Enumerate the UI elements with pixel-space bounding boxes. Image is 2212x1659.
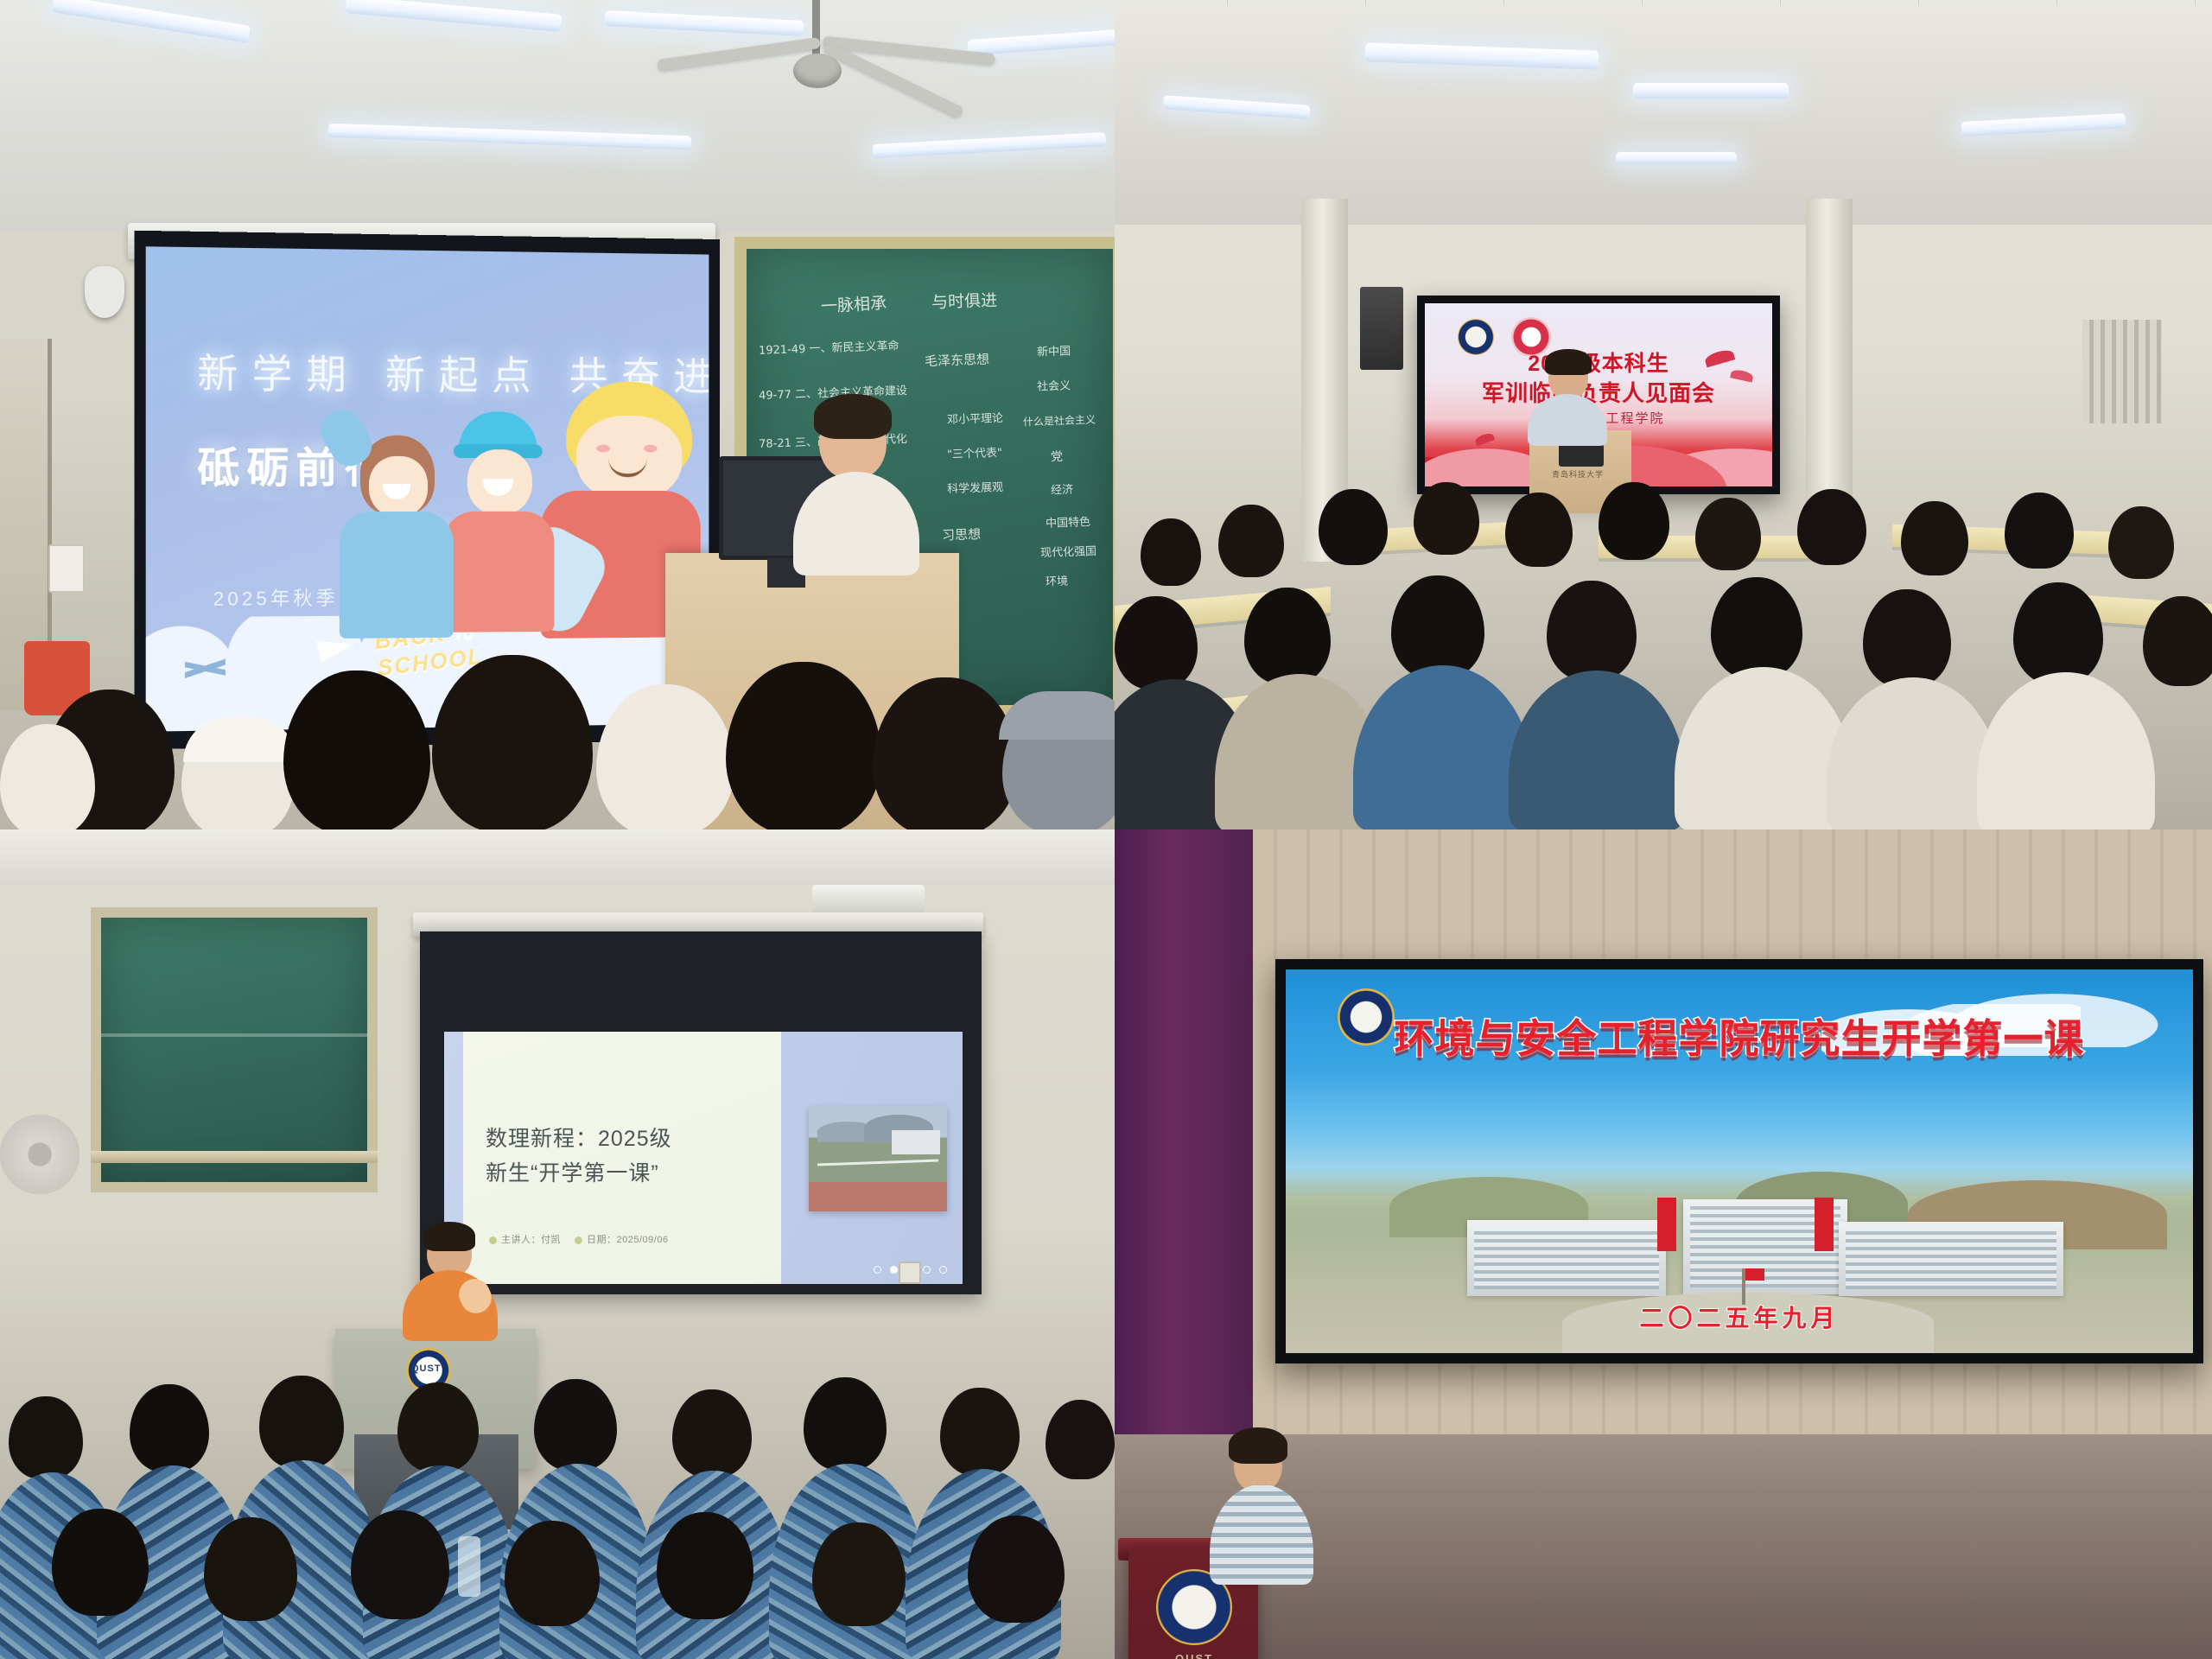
building-windows: [1846, 1229, 2056, 1289]
slide-title-line-1: 数理新程：2025级: [486, 1122, 672, 1153]
university-emblem-icon: [1458, 319, 1494, 355]
radiator: [2082, 320, 2162, 423]
chalk-line: 中国特色: [1046, 512, 1091, 531]
bird-decoration-icon: [1704, 348, 1736, 368]
led-title: 环境与安全工程学院研究生开学第一课: [1395, 1007, 2085, 1065]
wall-speaker: [1360, 287, 1403, 370]
projection-screen: 数理新程：2025级 新生“开学第一课” 主讲人：付凯 日期：2025/09/0…: [420, 931, 982, 1294]
pager-dot-5[interactable]: [939, 1266, 947, 1274]
chalk-line: 新中国: [1037, 341, 1071, 359]
lecturer: [798, 399, 911, 572]
led-date: 二〇二五年九月: [1639, 1300, 1839, 1334]
campus-photo: [809, 1106, 947, 1211]
chalk-line: 科学发展观: [947, 478, 1004, 496]
presenter-label: 主讲人：付凯: [501, 1235, 561, 1245]
chalk-line: "三个代表": [947, 443, 1003, 461]
podium-logo-text: QUST: [1175, 1652, 1213, 1659]
bullet-dot-icon: [575, 1236, 582, 1244]
chalk-line: 党: [1051, 448, 1064, 465]
slide-title-line-2: 新生“开学第一课”: [486, 1156, 659, 1187]
panel-top-left-classroom: 一脉相承 与时俱进 1921-49 一、新民主义革命 49-77 二、社会主义革…: [0, 0, 1115, 829]
wall-switch-panel[interactable]: [48, 544, 85, 593]
ceiling-light: [1616, 152, 1737, 164]
panel-bottom-left-new-student-lesson: 数理新程：2025级 新生“开学第一课” 主讲人：付凯 日期：2025/09/0…: [0, 829, 1115, 1659]
ceiling-fan-hub: [793, 54, 842, 88]
chalk-heading-right: 与时俱进: [931, 288, 998, 314]
date-label: 日期：2025/09/06: [587, 1235, 669, 1245]
chalk-line: 环境: [1046, 572, 1069, 589]
stage-curtain: [1115, 829, 1253, 1434]
chalk-line: 什么是社会主义: [1023, 412, 1096, 429]
chalk-heading-left: 一脉相承: [820, 290, 887, 317]
ceiling-grid: [0, 0, 1115, 251]
pager-dot-2-active[interactable]: [890, 1266, 898, 1274]
slide-date: 日期：2025/09/06: [575, 1232, 669, 1246]
chalk-line: 1921-49 一、新民主义革命: [759, 336, 899, 358]
photo-collage: 一脉相承 与时俱进 1921-49 一、新民主义革命 49-77 二、社会主义革…: [0, 0, 2212, 1659]
led-slide-graduate-lesson: 环境与安全工程学院研究生开学第一课 二〇二五年九月: [1286, 969, 2193, 1353]
security-camera-icon: [85, 266, 124, 318]
pager-dot-4[interactable]: [923, 1266, 931, 1274]
panel-bottom-right-graduate-lesson: 环境与安全工程学院研究生开学第一课 二〇二五年九月 QUST: [1115, 829, 2212, 1659]
chalk-line: 毛泽东思想: [925, 350, 990, 371]
ceiling-light: [1633, 83, 1789, 99]
pager-dot-1[interactable]: [874, 1266, 881, 1274]
wall-socket[interactable]: [899, 1262, 921, 1284]
red-banner: [1815, 1198, 1834, 1251]
qust-emblem-icon: [1338, 988, 1395, 1046]
ceiling-strip: [0, 829, 1115, 885]
presenter: [1210, 1434, 1313, 1581]
ceiling-projector: [812, 885, 925, 914]
chalk-rail: [91, 1151, 378, 1163]
audience-row: [0, 588, 1115, 829]
chalkboard-divider: [101, 1033, 367, 1037]
chalk-line: 社会义: [1037, 376, 1071, 393]
red-banner: [1657, 1198, 1676, 1251]
chalk-line: 经济: [1051, 480, 1074, 498]
slide-meta: 主讲人：付凯 日期：2025/09/06: [489, 1232, 669, 1246]
large-led-screen: 环境与安全工程学院研究生开学第一课 二〇二五年九月: [1275, 959, 2203, 1363]
panel-top-right-military-meeting: 2025级本科生 军训临时负责人见面会 化学与分子工程学院 2025.9 青岛科…: [1115, 0, 2212, 829]
presenter: [397, 1227, 501, 1339]
chalk-line: 邓小平理论: [947, 409, 1004, 427]
chalk-line: 习思想: [942, 524, 982, 544]
podium-logo: [1559, 444, 1604, 467]
ceiling-fan-rod: [812, 0, 820, 60]
audience-camouflage: [0, 1339, 1115, 1659]
flag: [1745, 1268, 1764, 1281]
building-windows: [1474, 1227, 1659, 1289]
presenter: [1528, 353, 1607, 439]
green-chalkboard: [91, 907, 378, 1192]
water-bottle: [458, 1536, 480, 1597]
chalk-line: 现代化强国: [1040, 542, 1097, 560]
audience-rows: [1115, 467, 2212, 829]
slide-new-student-lesson: 数理新程：2025级 新生“开学第一课” 主讲人：付凯 日期：2025/09/0…: [444, 1032, 963, 1284]
wall-fan-icon: [0, 1115, 79, 1194]
bird-decoration-icon: [1730, 368, 1754, 382]
